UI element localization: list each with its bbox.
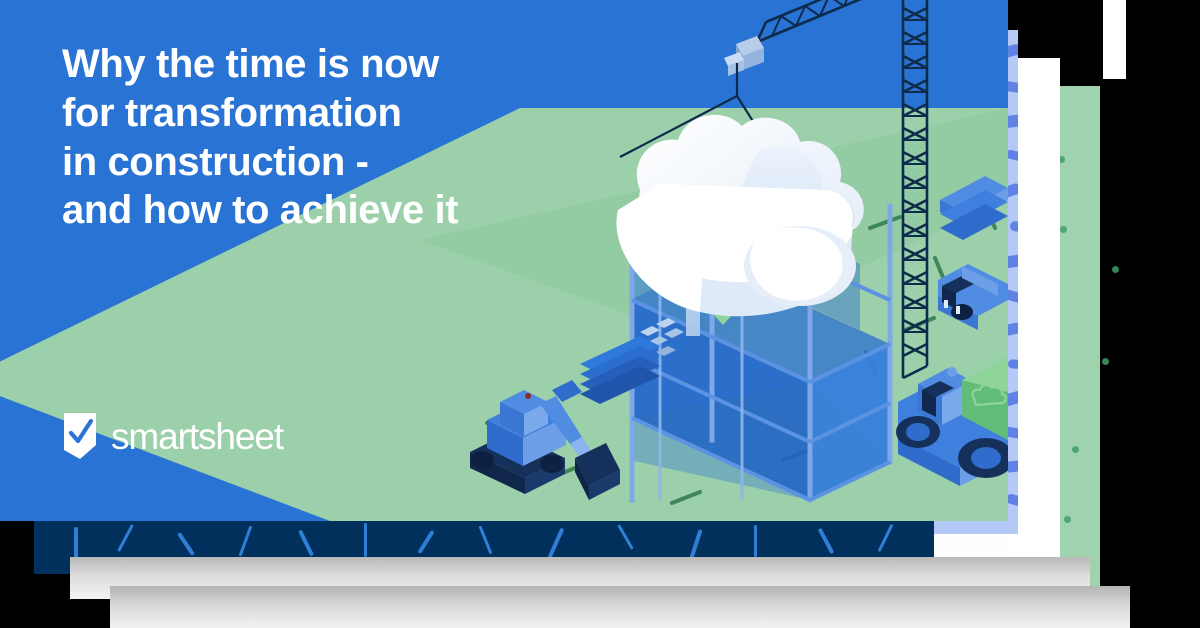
decorative-dash bbox=[239, 525, 253, 556]
smartsheet-wordmark: smartsheet bbox=[111, 418, 283, 455]
decorative-dot bbox=[1072, 446, 1079, 453]
promo-banner: Why the time is now for transformation i… bbox=[0, 0, 1200, 628]
headline-line-4: and how to achieve it bbox=[62, 186, 582, 235]
stack-layer-gray-2 bbox=[110, 586, 1130, 628]
decorative-dash bbox=[689, 529, 702, 559]
decorative-dash bbox=[364, 523, 367, 557]
page-title: Why the time is now for transformation i… bbox=[62, 40, 582, 235]
decorative-dot bbox=[1112, 266, 1119, 273]
decorative-dash bbox=[478, 526, 492, 555]
headline-line-2: for transformation bbox=[62, 89, 582, 138]
decorative-dash bbox=[74, 527, 78, 561]
decorative-dash bbox=[117, 524, 134, 552]
decorative-dash bbox=[177, 532, 195, 556]
headline-line-1: Why the time is now bbox=[62, 40, 582, 89]
decorative-dot bbox=[1102, 358, 1109, 365]
decorative-dash bbox=[818, 528, 835, 555]
decorative-dash bbox=[878, 524, 894, 552]
decorative-dash bbox=[754, 525, 757, 557]
decorative-dot bbox=[1060, 226, 1067, 233]
smartsheet-checkmark-logo-icon bbox=[62, 413, 98, 459]
decorative-dash bbox=[417, 530, 434, 554]
headline-line-3: in construction - bbox=[62, 138, 582, 187]
decorative-dash bbox=[617, 524, 634, 550]
decorative-dash bbox=[548, 528, 565, 559]
decorative-dash bbox=[298, 530, 314, 557]
decorative-dash bbox=[1010, 221, 1018, 233]
decorative-dot bbox=[1064, 516, 1071, 523]
main-blue-card: Why the time is now for transformation i… bbox=[0, 0, 1008, 521]
stack-tab-white bbox=[1103, 0, 1126, 79]
smartsheet-logo[interactable]: smartsheet bbox=[62, 413, 283, 459]
crane-trolley-icon bbox=[724, 36, 764, 76]
decorative-dash bbox=[1008, 359, 1018, 370]
